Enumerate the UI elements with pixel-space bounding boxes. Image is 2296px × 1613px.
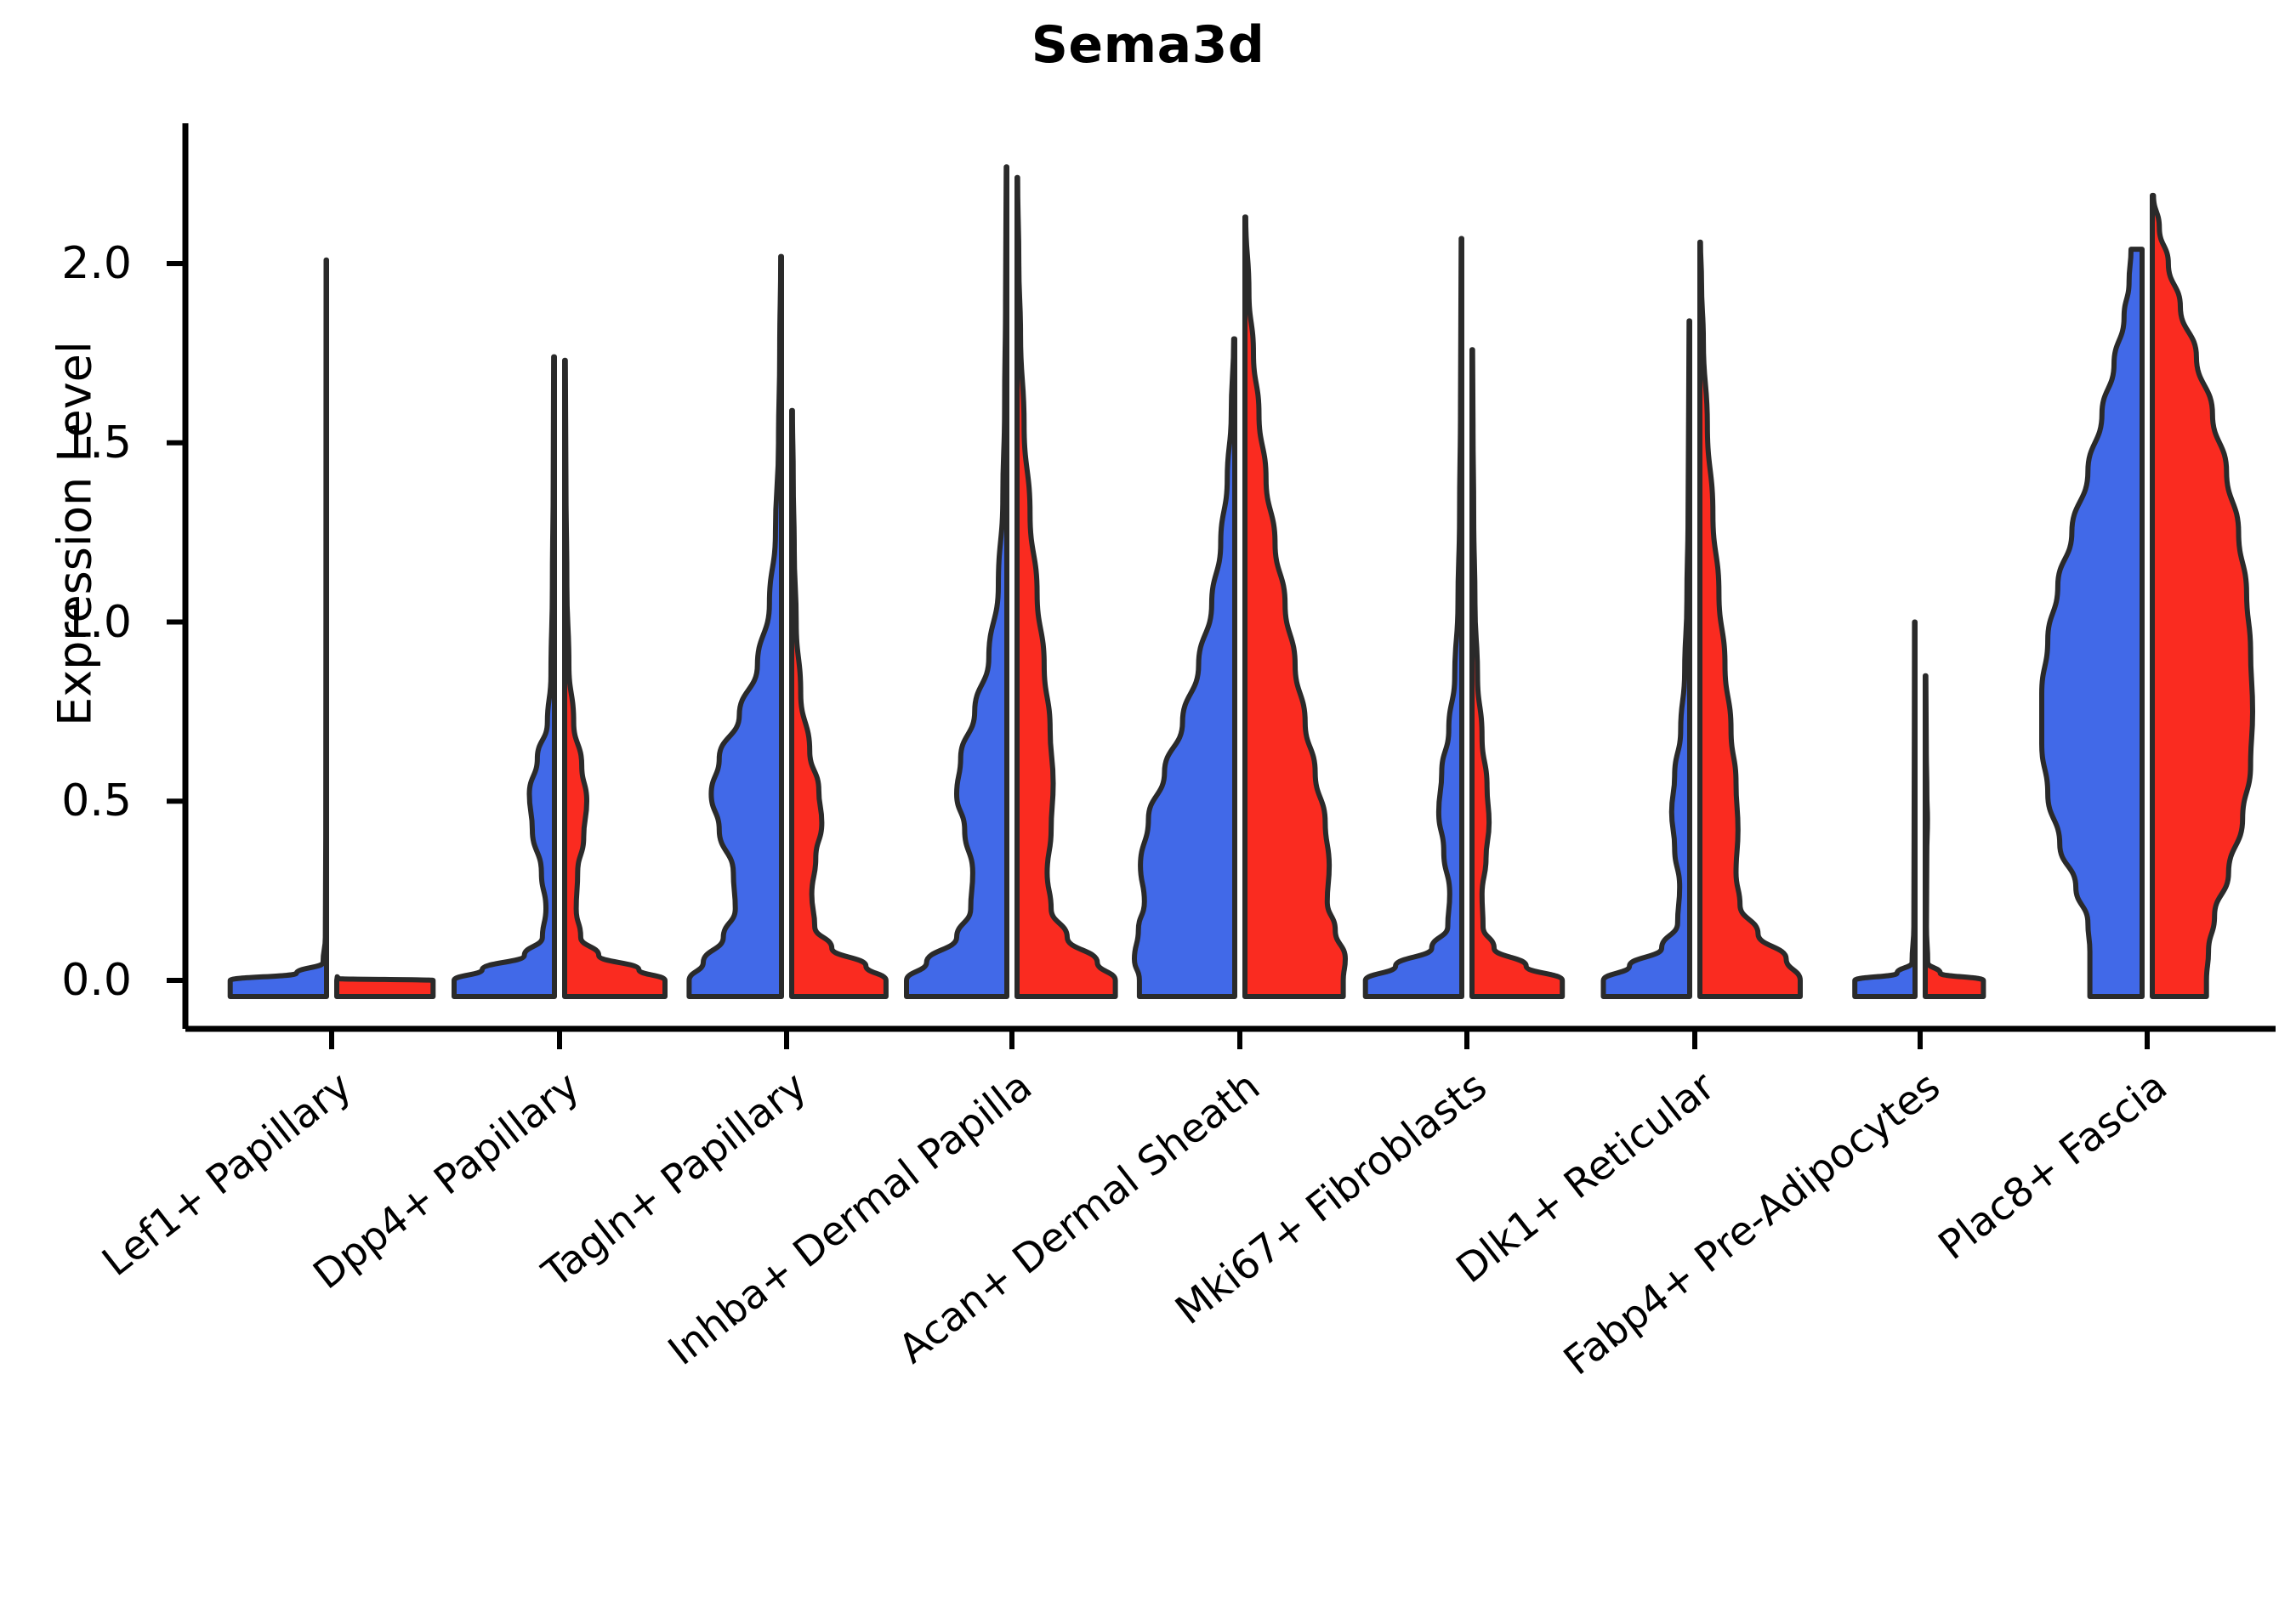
violin-red-2[interactable] [792,411,886,997]
plot-canvas [0,0,2296,1531]
violins [230,167,2253,997]
violin-blue-3[interactable] [906,167,1007,997]
violin-blue-8[interactable] [2042,249,2142,997]
violin-red-3[interactable] [1017,178,1116,997]
violin-red-1[interactable] [565,361,665,997]
violin-blue-7[interactable] [1855,622,1915,997]
y-tick-label: 0.0 [0,955,132,1006]
violin-plot-figure: Sema3d Expression Level 0.00.51.01.52.0L… [0,0,2296,1531]
violin-blue-4[interactable] [1134,339,1235,997]
violin-red-8[interactable] [2152,196,2253,997]
violin-red-5[interactable] [1472,349,1562,997]
x-ticks [332,1029,2147,1049]
y-tick-label: 0.5 [0,775,132,826]
violin-red-6[interactable] [1700,242,1800,997]
y-tick-label: 2.0 [0,238,132,289]
violin-red-7[interactable] [1925,676,1983,997]
y-tick-label: 1.5 [0,417,132,469]
y-tick-label: 1.0 [0,597,132,648]
violin-blue-0[interactable] [230,260,327,997]
violin-blue-1[interactable] [454,357,554,997]
violin-red-0[interactable] [337,977,433,997]
violin-blue-2[interactable] [689,257,781,997]
violin-blue-6[interactable] [1604,321,1691,997]
violin-red-4[interactable] [1245,217,1345,997]
violin-blue-5[interactable] [1366,239,1462,997]
